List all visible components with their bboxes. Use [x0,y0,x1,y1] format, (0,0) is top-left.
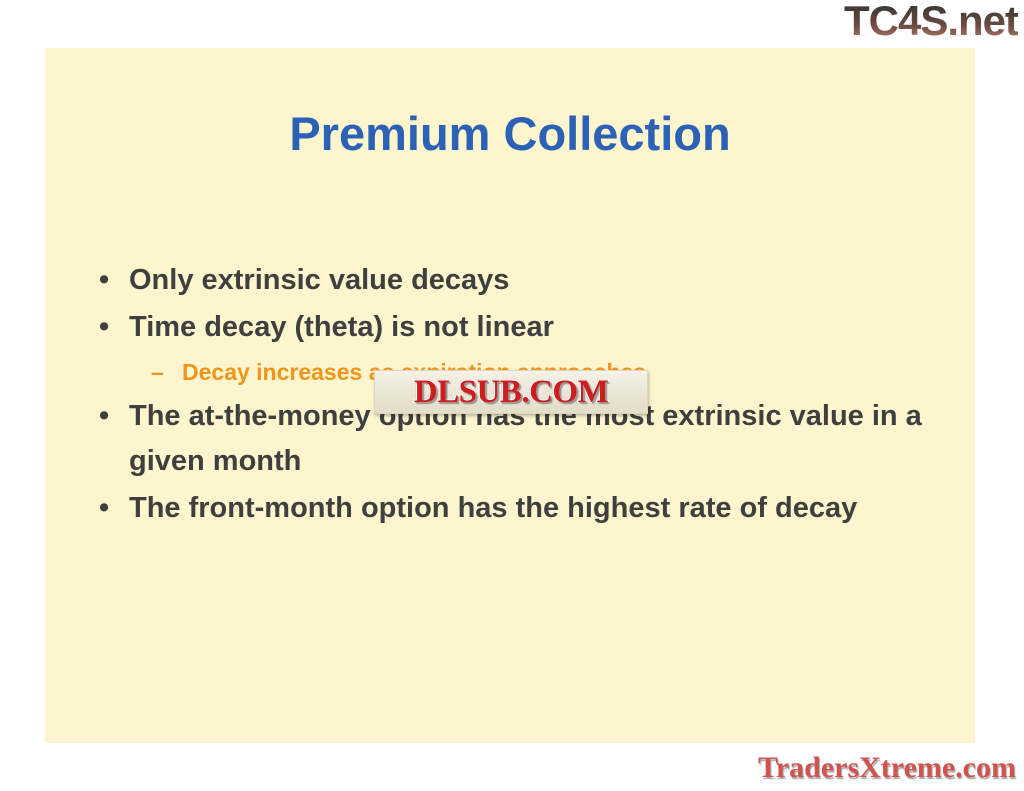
bullet-dash-icon: – [151,352,164,393]
slide-title: Premium Collection [45,106,975,162]
site-logo-top: TC4S.net [844,0,1018,44]
bullet-dot-icon: • [99,486,109,531]
bullet-item: • Only extrinsic value decays [89,258,949,303]
bullet-dot-icon: • [99,305,109,350]
bullet-dot-icon: • [99,394,109,439]
watermark-text: DLSUB.COM [414,375,608,409]
bullet-dot-icon: • [99,258,109,303]
bullet-item: • The front-month option has the highest… [89,486,949,531]
site-logo-bottom: TradersXtreme.com [758,751,1016,785]
watermark-overlay: DLSUB.COM [374,370,648,414]
bullet-item: • Time decay (theta) is not linear [89,305,949,350]
bullet-text: Only extrinsic value decays [129,264,509,296]
bullet-text: Time decay (theta) is not linear [129,311,554,343]
bullet-text: The front-month option has the highest r… [129,492,857,524]
